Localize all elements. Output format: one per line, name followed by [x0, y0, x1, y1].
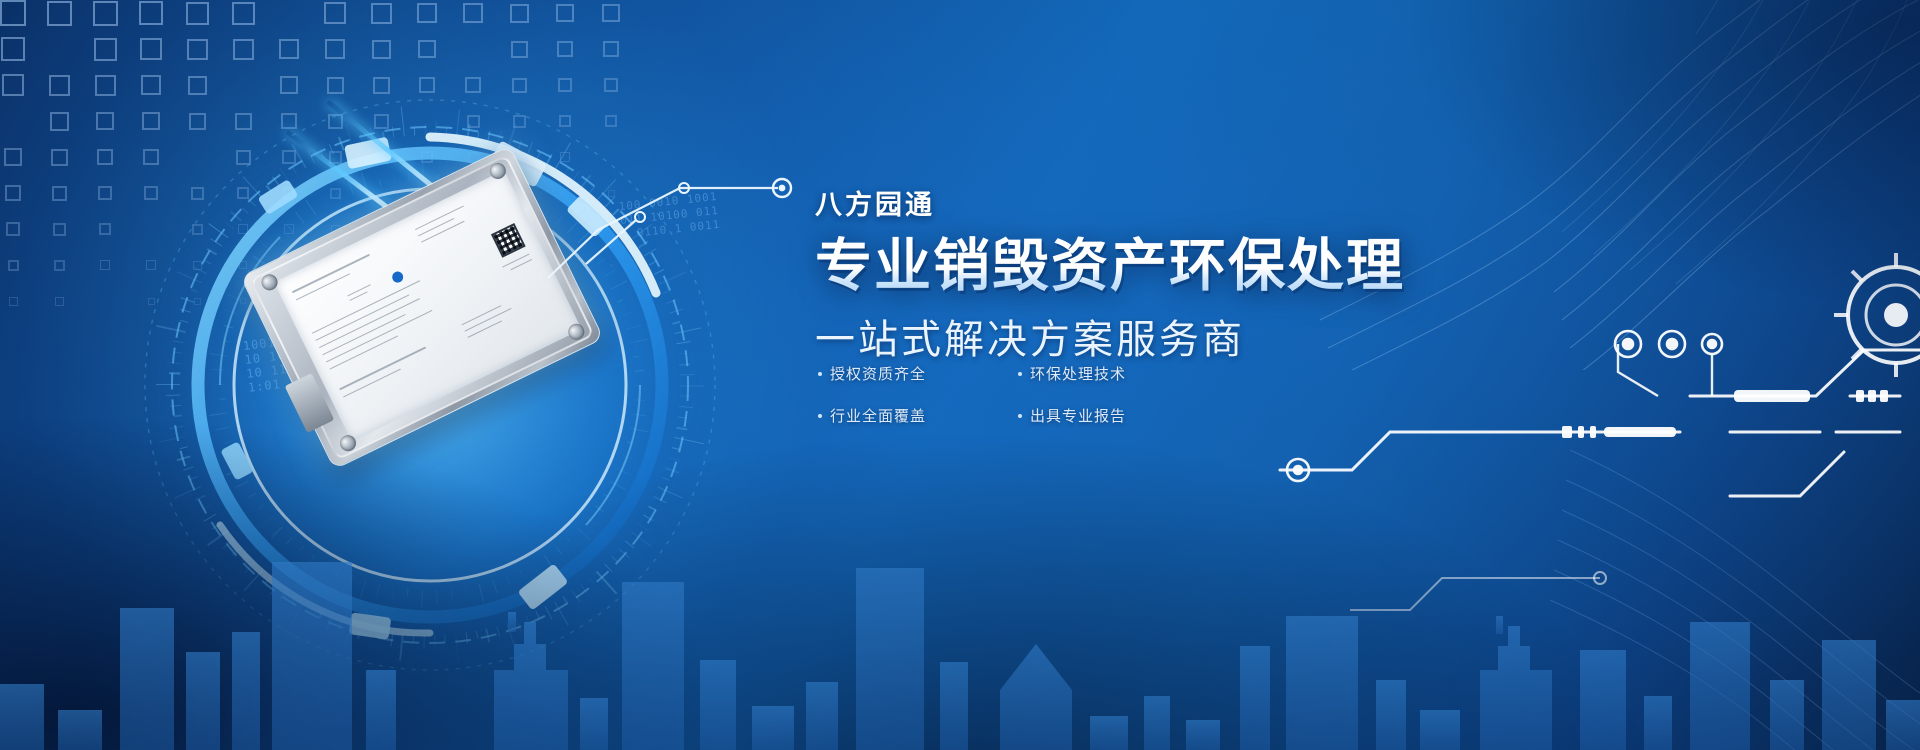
feature-label: 授权资质齐全: [830, 363, 926, 384]
bullet-dot-icon: [1018, 372, 1022, 376]
feature-item: 行业全面覆盖: [818, 405, 1018, 426]
feature-item: 环保处理技术: [1018, 363, 1218, 384]
bullet-dot-icon: [818, 372, 822, 376]
feature-label: 出具专业报告: [1030, 405, 1126, 426]
city-skyline-silhouette: [0, 520, 1920, 750]
page-title: 专业销毁资产环保处理: [815, 236, 1575, 298]
feature-label: 环保处理技术: [1030, 363, 1126, 384]
feature-label: 行业全面覆盖: [830, 405, 926, 426]
feature-item: 授权资质齐全: [818, 363, 1018, 384]
hero-banner: 1001 0010 1001 100 10 101 101100 01 10 1…: [0, 0, 1920, 750]
page-subtitle: 一站式解决方案服务商: [815, 307, 1575, 365]
feature-list: 授权资质齐全环保处理技术行业全面覆盖出具专业报告: [818, 363, 1218, 447]
bullet-dot-icon: [1018, 414, 1022, 418]
hero-copy: 八方园通 专业销毁资产环保处理 一站式解决方案服务商: [815, 183, 1575, 365]
bullet-dot-icon: [818, 414, 822, 418]
feature-item: 出具专业报告: [1018, 405, 1218, 426]
brand-name: 八方园通: [815, 183, 1575, 222]
